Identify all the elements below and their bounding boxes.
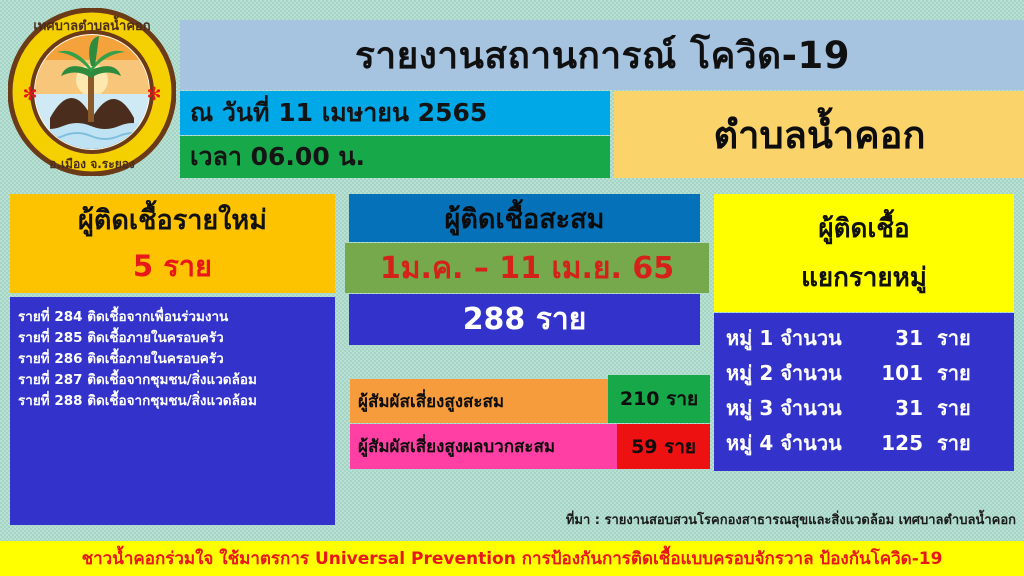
village-breakdown-list: หมู่ 1 จำนวน 31 ราย หมู่ 2 จำนวน 101 ราย… xyxy=(714,313,1014,471)
table-row: หมู่ 2 จำนวน 101 ราย xyxy=(714,356,1014,391)
municipality-seal-logo: เทศบาลตำบลน้ำคอก อ.เมือง จ.ระยอง ✻ ✻ xyxy=(8,8,176,176)
cumulative-heading: ผู้ติดเชื้อสะสม xyxy=(349,194,700,242)
high-risk-contacts-value-box: 210 ราย xyxy=(608,375,710,423)
svg-text:อ.เมือง จ.ระยอง: อ.เมือง จ.ระยอง xyxy=(49,157,135,171)
village-unit: ราย xyxy=(923,426,971,461)
table-row: หมู่ 1 จำนวน 31 ราย xyxy=(714,321,1014,356)
new-cases-value: 5 ราย xyxy=(133,243,212,289)
report-time-text: เวลา 06.00 น. xyxy=(180,137,365,177)
report-time-banner: เวลา 06.00 น. xyxy=(180,136,610,178)
subdistrict-name: ตำบลน้ำคอก xyxy=(714,104,926,165)
source-note-text: ที่มา : รายงานสอบสวนโรคกองสาธารณสุขและสิ… xyxy=(566,509,1016,530)
village-count: 31 xyxy=(861,321,923,356)
table-row: หมู่ 4 จำนวน 125 ราย xyxy=(714,426,1014,461)
high-risk-contacts-value: 210 ราย xyxy=(620,384,698,414)
seal-icon: เทศบาลตำบลน้ำคอก อ.เมือง จ.ระยอง ✻ ✻ xyxy=(8,8,176,176)
cumulative-heading-text: ผู้ติดเชื้อสะสม xyxy=(445,197,605,240)
village-unit: ราย xyxy=(923,321,971,356)
village-name: หมู่ 3 จำนวน xyxy=(726,391,861,426)
village-count: 101 xyxy=(861,356,923,391)
source-note: ที่มา : รายงานสอบสวนโรคกองสาธารณสุขและสิ… xyxy=(466,508,1016,530)
cumulative-total: 288 ราย xyxy=(349,294,700,345)
new-cases-label: ผู้ติดเชื้อรายใหม่ xyxy=(78,198,267,241)
list-item: รายที่ 285 ติดเชื้อภายในครอบครัว xyxy=(10,328,335,349)
page-title: รายงานสถานการณ์ โควิด-19 xyxy=(180,20,1024,90)
table-row: หมู่ 3 จำนวน 31 ราย xyxy=(714,391,1014,426)
poster-root: เทศบาลตำบลน้ำคอก อ.เมือง จ.ระยอง ✻ ✻ ราย… xyxy=(0,0,1024,576)
village-unit: ราย xyxy=(923,391,971,426)
footer-text: ชาวน้ำคอกร่วมใจ ใช้มาตรการ Universal Pre… xyxy=(82,545,943,572)
cumulative-date-range-text: 1ม.ค. – 11 เม.ย. 65 xyxy=(380,245,674,292)
high-risk-contacts-label: ผู้สัมผัสเสี่ยงสูงสะสม xyxy=(358,379,504,423)
village-count: 31 xyxy=(861,391,923,426)
subdistrict-banner: ตำบลน้ำคอก xyxy=(614,91,1024,178)
report-date-banner: ณ วันที่ 11 เมษายน 2565 xyxy=(180,91,610,135)
village-name: หมู่ 2 จำนวน xyxy=(726,356,861,391)
list-item: รายที่ 287 ติดเชื้อจากชุมชน/สิ่งแวดล้อม xyxy=(10,370,335,391)
village-breakdown-heading: ผู้ติดเชื้อ แยกรายหมู่ xyxy=(714,194,1014,312)
svg-text:✻: ✻ xyxy=(22,84,37,105)
cumulative-date-range: 1ม.ค. – 11 เม.ย. 65 xyxy=(345,243,709,293)
village-heading-line2: แยกรายหมู่ xyxy=(801,257,927,298)
cumulative-total-text: 288 ราย xyxy=(463,296,587,343)
village-heading-line1: ผู้ติดเชื้อ xyxy=(818,208,909,249)
list-item: รายที่ 288 ติดเชื้อจากชุมชน/สิ่งแวดล้อม xyxy=(10,391,335,412)
svg-text:✻: ✻ xyxy=(146,84,161,105)
report-date-text: ณ วันที่ 11 เมษายน 2565 xyxy=(180,93,487,133)
list-item: รายที่ 284 ติดเชื้อจากเพื่อนร่วมงาน xyxy=(10,307,335,328)
list-item: รายที่ 286 ติดเชื้อภายในครอบครัว xyxy=(10,349,335,370)
high-risk-positive-value-box: 59 ราย xyxy=(617,424,710,469)
village-name: หมู่ 4 จำนวน xyxy=(726,426,861,461)
village-unit: ราย xyxy=(923,356,971,391)
new-cases-panel: ผู้ติดเชื้อรายใหม่ 5 ราย xyxy=(10,194,335,293)
new-case-detail-list: รายที่ 284 ติดเชื้อจากเพื่อนร่วมงาน รายท… xyxy=(10,297,335,525)
high-risk-positive-value: 59 ราย xyxy=(631,432,696,462)
page-title-text: รายงานสถานการณ์ โควิด-19 xyxy=(355,26,850,85)
village-name: หมู่ 1 จำนวน xyxy=(726,321,861,356)
footer-banner: ชาวน้ำคอกร่วมใจ ใช้มาตรการ Universal Pre… xyxy=(0,541,1024,576)
high-risk-positive-label: ผู้สัมผัสเสี่ยงสูงผลบวกสะสม xyxy=(358,424,555,469)
village-count: 125 xyxy=(861,426,923,461)
